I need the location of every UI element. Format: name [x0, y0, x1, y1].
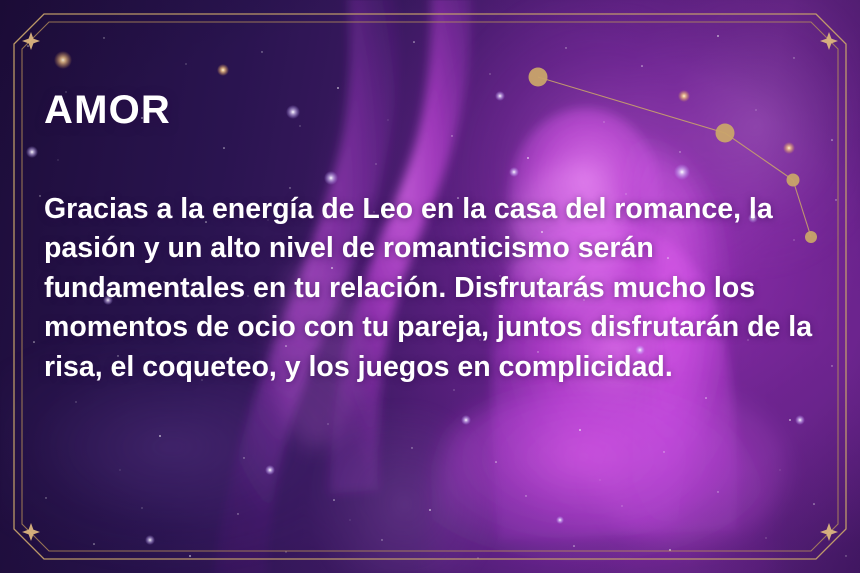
page-title: AMOR: [44, 90, 814, 130]
horoscope-card: AMOR Gracias a la energía de Leo en la c…: [0, 0, 860, 573]
horoscope-body-text: Gracias a la energía de Leo en la casa d…: [44, 190, 814, 387]
sparkle-icon: [22, 523, 40, 541]
constellation-node: [529, 68, 548, 87]
card-content: AMOR Gracias a la energía de Leo en la c…: [44, 90, 814, 387]
sparkle-icon: [820, 523, 838, 541]
sparkle-icon: [820, 32, 838, 50]
sparkle-icon: [22, 32, 40, 50]
